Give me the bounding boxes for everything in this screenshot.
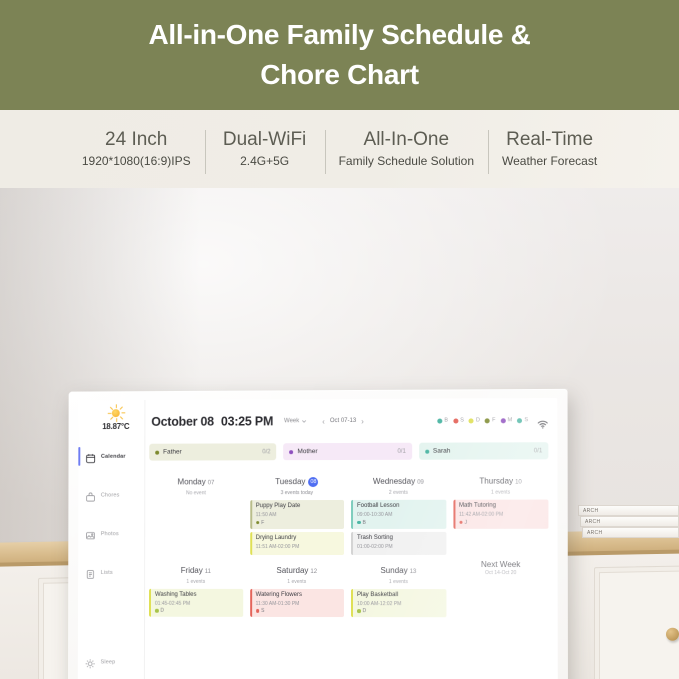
event-owner: F bbox=[256, 519, 340, 525]
legend-item[interactable]: D bbox=[469, 417, 480, 423]
legend-initial: S bbox=[524, 417, 528, 423]
legend-initial: S bbox=[460, 417, 464, 423]
legend-dot bbox=[517, 418, 522, 423]
day-event-count: 1 events bbox=[250, 578, 344, 584]
sidebar-item-label: Calendar bbox=[101, 453, 126, 459]
chores-icon bbox=[85, 490, 96, 501]
legend-dot bbox=[437, 418, 442, 423]
day-number: 10 bbox=[515, 480, 522, 486]
day-number: 13 bbox=[410, 569, 417, 575]
feature-subtitle: 1920*1080(16:9)IPS bbox=[82, 152, 191, 170]
day-events: Washing Tables01:45-02:45 PMD bbox=[149, 588, 243, 617]
sun-icon bbox=[85, 656, 96, 667]
sidebar-item-sleep[interactable]: Sleep bbox=[78, 649, 144, 674]
calendar-grid: Monday07No eventTuesday083 events todayP… bbox=[145, 465, 558, 679]
day-number: 08 bbox=[308, 477, 318, 487]
book-spine-label: ARCH bbox=[585, 519, 600, 525]
day-header: Saturday121 events bbox=[250, 554, 344, 587]
sidebar-item-label: Photos bbox=[101, 531, 119, 537]
day-event-count: 1 events bbox=[149, 578, 243, 584]
day-column[interactable]: Tuesday083 events todayPuppy Play Date11… bbox=[250, 466, 344, 555]
owner-initial: D bbox=[160, 608, 164, 614]
feature-strip: 24 Inch 1920*1080(16:9)IPS Dual-WiFi 2.4… bbox=[0, 110, 679, 188]
member-dot bbox=[155, 450, 159, 454]
legend-initial: B bbox=[444, 418, 448, 424]
legend-dot bbox=[501, 418, 506, 423]
feature-item-3: Real-Time Weather Forecast bbox=[488, 128, 611, 170]
event-time: 11:50 AM bbox=[256, 512, 340, 518]
event-time: 11:51 AM-02:00 PM bbox=[256, 543, 340, 549]
member-task-count: 0/1 bbox=[397, 448, 405, 454]
app-content: 18.87°C October 08 03:25 PM Week bbox=[145, 398, 558, 679]
feature-subtitle: Family Schedule Solution bbox=[339, 152, 474, 170]
day-name: Monday bbox=[178, 477, 206, 486]
member-chip[interactable]: Mother0/1 bbox=[283, 443, 411, 460]
sun-core bbox=[112, 409, 120, 417]
owner-dot bbox=[357, 521, 361, 525]
day-events: Math Tutoring11:42 AM-02:00 PMJ bbox=[453, 500, 549, 529]
event-time: 09:00-10:30 AM bbox=[357, 512, 442, 518]
day-event-count: 1 events bbox=[453, 489, 548, 495]
legend-dot bbox=[453, 418, 458, 423]
chevron-down-icon bbox=[301, 418, 307, 424]
day-header: Tuesday083 events today bbox=[250, 466, 344, 499]
legend-dot bbox=[485, 418, 490, 423]
product-listing-image: All-in-One Family Schedule & Chore Chart… bbox=[0, 0, 679, 679]
event-time: 10:00 AM-12:02 PM bbox=[357, 601, 442, 607]
day-column[interactable]: Friday111 eventsWashing Tables01:45-02:4… bbox=[149, 555, 243, 617]
owner-initial: S bbox=[261, 608, 264, 614]
wifi-icon[interactable] bbox=[537, 416, 548, 425]
day-event-count: 1 events bbox=[351, 579, 446, 585]
photos-icon bbox=[85, 528, 96, 539]
legend-initial: F bbox=[492, 417, 495, 423]
book-stack-item: ARCH bbox=[580, 516, 679, 527]
date-range-label: Oct 07-13 bbox=[330, 418, 356, 424]
owner-dot bbox=[256, 609, 259, 613]
sidebar-item-calendar[interactable]: Calendar bbox=[78, 444, 144, 469]
next-week-title: Next Week bbox=[453, 559, 549, 568]
legend-item[interactable]: S bbox=[453, 417, 464, 423]
room-scene: ARCH ARCH ARCH bbox=[0, 188, 679, 679]
day-name: Saturday bbox=[276, 565, 308, 574]
day-event-count: 3 events today bbox=[250, 490, 344, 496]
member-dot bbox=[289, 450, 293, 454]
owner-dot bbox=[357, 609, 361, 613]
event-card[interactable]: Drying Laundry11:51 AM-02:00 PM bbox=[250, 531, 344, 554]
current-date: October 08 bbox=[151, 415, 214, 429]
member-task-count: 0/2 bbox=[262, 449, 270, 455]
legend-item[interactable]: F bbox=[485, 417, 495, 423]
day-header: Wednesday092 events bbox=[351, 466, 446, 499]
day-number: 07 bbox=[208, 480, 215, 486]
feature-item-2: All-In-One Family Schedule Solution bbox=[325, 128, 488, 170]
weather-widget[interactable]: 18.87°C bbox=[87, 404, 144, 431]
calendar-icon bbox=[85, 451, 96, 462]
member-name: Mother bbox=[297, 448, 317, 455]
feature-title: 24 Inch bbox=[82, 128, 191, 152]
event-card[interactable]: Play Basketball10:00 AM-12:02 PMD bbox=[351, 589, 446, 618]
day-header: Friday111 events bbox=[149, 555, 243, 588]
feature-title: Dual-WiFi bbox=[219, 128, 311, 152]
date-navigation: ‹ Oct 07-13 › bbox=[322, 416, 364, 425]
feature-subtitle: 2.4G+5G bbox=[219, 152, 311, 170]
member-task-count: 0/1 bbox=[534, 448, 542, 454]
day-column[interactable]: Wednesday092 eventsFootball Lesson09:00-… bbox=[351, 466, 446, 555]
event-title: Trash Sorting bbox=[357, 534, 442, 542]
legend-initial: M bbox=[508, 417, 513, 423]
day-column[interactable]: Thursday101 eventsMath Tutoring11:42 AM-… bbox=[453, 465, 549, 554]
feature-title: Real-Time bbox=[502, 128, 597, 152]
sidebar-item-chores[interactable]: Chores bbox=[78, 483, 144, 508]
owner-initial: B bbox=[363, 519, 366, 525]
legend-item[interactable]: M bbox=[501, 417, 513, 423]
feature-item-1: Dual-WiFi 2.4G+5G bbox=[205, 128, 325, 170]
sidebar-item-photos[interactable]: Photos bbox=[78, 521, 144, 546]
event-title: Watering Flowers bbox=[256, 591, 340, 599]
day-events: Play Basketball10:00 AM-12:02 PMD bbox=[351, 589, 446, 618]
member-chips-row: Father0/2Mother0/1Sarah0/1 bbox=[145, 442, 557, 466]
member-dot bbox=[425, 449, 429, 453]
event-card[interactable]: Trash Sorting01:00-02:00 PM bbox=[351, 531, 446, 554]
event-card[interactable]: Watering Flowers11:30 AM-01:30 PMS bbox=[250, 588, 344, 617]
feature-title: All-In-One bbox=[339, 128, 474, 152]
day-name: Thursday bbox=[479, 477, 513, 486]
event-time: 11:42 AM-02:00 PM bbox=[459, 512, 544, 518]
day-name: Wednesday bbox=[373, 477, 415, 486]
event-card[interactable]: Puppy Play Date11:50 AMF bbox=[250, 500, 344, 529]
day-column[interactable]: Monday07No event bbox=[149, 466, 243, 554]
feature-subtitle: Weather Forecast bbox=[502, 152, 597, 170]
day-events: Football Lesson09:00-10:30 AMBTrash Sort… bbox=[351, 500, 446, 555]
sidebar-item-label: Lists bbox=[101, 569, 113, 575]
day-event-count: No event bbox=[149, 490, 243, 496]
tablet-device: Calendar Chores bbox=[68, 389, 568, 679]
cabinet-door-right bbox=[594, 565, 679, 679]
day-events: Watering Flowers11:30 AM-01:30 PMS bbox=[250, 588, 344, 617]
book-spine-label: ARCH bbox=[583, 508, 598, 514]
legend-initial: D bbox=[476, 417, 480, 423]
legend-dot bbox=[469, 418, 474, 423]
next-week-column[interactable]: Next WeekOct 14-Oct 20 bbox=[453, 554, 549, 617]
promo-banner: All-in-One Family Schedule & Chore Chart bbox=[0, 0, 679, 110]
prev-week-button[interactable]: ‹ bbox=[322, 417, 325, 426]
view-mode-select[interactable]: Week bbox=[284, 418, 307, 424]
member-chip[interactable]: Father0/2 bbox=[149, 443, 276, 460]
day-name: Tuesday bbox=[275, 477, 305, 486]
member-legend: BSDFMS bbox=[437, 417, 528, 423]
member-name: Father bbox=[163, 449, 182, 456]
sun-icon bbox=[107, 404, 124, 421]
owner-dot bbox=[459, 521, 463, 525]
legend-item[interactable]: S bbox=[517, 417, 528, 423]
current-time: 03:25 PM bbox=[221, 414, 273, 428]
day-header: Monday07No event bbox=[149, 466, 243, 499]
day-name: Friday bbox=[181, 565, 203, 574]
sidebar-item-label: Sleep bbox=[101, 659, 116, 665]
day-number: 12 bbox=[310, 568, 317, 574]
day-header: Sunday131 events bbox=[351, 554, 446, 587]
event-owner: D bbox=[357, 608, 442, 614]
member-chip[interactable]: Sarah0/1 bbox=[419, 442, 548, 460]
day-events: Puppy Play Date11:50 AMFDrying Laundry11… bbox=[250, 500, 344, 555]
sidebar-item-label: Chores bbox=[101, 492, 120, 498]
owner-dot bbox=[155, 609, 158, 612]
day-event-count: 2 events bbox=[351, 490, 446, 496]
banner-headline-line2: Chore Chart bbox=[260, 55, 419, 95]
book-stack-item: ARCH bbox=[582, 527, 679, 538]
event-time: 01:45-02:45 PM bbox=[155, 600, 239, 606]
book-stack-item: ARCH bbox=[578, 505, 679, 516]
week-row-current: Monday07No eventTuesday083 events todayP… bbox=[149, 465, 548, 554]
event-card[interactable]: Math Tutoring11:42 AM-02:00 PMJ bbox=[453, 500, 549, 529]
next-week-button[interactable]: › bbox=[361, 416, 364, 425]
legend-item[interactable]: B bbox=[437, 418, 448, 424]
event-owner: S bbox=[256, 608, 340, 614]
owner-dot bbox=[256, 521, 259, 524]
sidebar-spacer bbox=[78, 599, 144, 650]
day-number: 09 bbox=[417, 480, 424, 486]
week-row-next: Friday111 eventsWashing Tables01:45-02:4… bbox=[149, 554, 549, 617]
event-title: Football Lesson bbox=[357, 503, 442, 511]
owner-initial: J bbox=[465, 519, 468, 525]
day-number: 11 bbox=[205, 568, 211, 574]
sidebar-item-lists[interactable]: Lists bbox=[78, 560, 144, 585]
feature-item-0: 24 Inch 1920*1080(16:9)IPS bbox=[68, 128, 205, 170]
event-owner: J bbox=[459, 519, 544, 525]
member-name: Sarah bbox=[433, 448, 450, 455]
app-sidebar: Calendar Chores bbox=[78, 400, 146, 679]
event-title: Math Tutoring bbox=[459, 503, 544, 511]
owner-initial: D bbox=[363, 608, 367, 614]
day-header: Thursday101 events bbox=[453, 465, 549, 498]
event-card[interactable]: Washing Tables01:45-02:45 PMD bbox=[149, 588, 243, 617]
book-spine-label: ARCH bbox=[587, 530, 602, 536]
event-time: 01:00-02:00 PM bbox=[357, 543, 442, 549]
day-column[interactable]: Sunday131 eventsPlay Basketball10:00 AM-… bbox=[351, 554, 446, 617]
app-topbar: 18.87°C October 08 03:25 PM Week bbox=[145, 398, 557, 444]
day-name: Sunday bbox=[380, 566, 407, 575]
temperature-readout: 18.87°C bbox=[87, 422, 144, 431]
next-week-range: Oct 14-Oct 20 bbox=[453, 570, 549, 576]
event-title: Drying Laundry bbox=[256, 534, 340, 542]
banner-headline-line1: All-in-One Family Schedule & bbox=[148, 15, 530, 55]
event-title: Washing Tables bbox=[155, 591, 239, 599]
event-card[interactable]: Football Lesson09:00-10:30 AMB bbox=[351, 500, 446, 529]
tablet-screen: Calendar Chores bbox=[78, 398, 558, 679]
event-title: Play Basketball bbox=[357, 592, 442, 600]
event-owner: D bbox=[155, 608, 239, 614]
next-week-header: Next WeekOct 14-Oct 20 bbox=[453, 554, 549, 578]
event-owner: B bbox=[357, 519, 442, 525]
event-time: 11:30 AM-01:30 PM bbox=[256, 600, 340, 606]
day-column[interactable]: Saturday121 eventsWatering Flowers11:30 … bbox=[250, 554, 344, 617]
family-schedule-app: Calendar Chores bbox=[78, 398, 558, 679]
view-mode-label: Week bbox=[284, 418, 299, 424]
event-title: Puppy Play Date bbox=[256, 503, 340, 511]
lists-icon bbox=[85, 567, 96, 578]
owner-initial: F bbox=[261, 520, 264, 526]
